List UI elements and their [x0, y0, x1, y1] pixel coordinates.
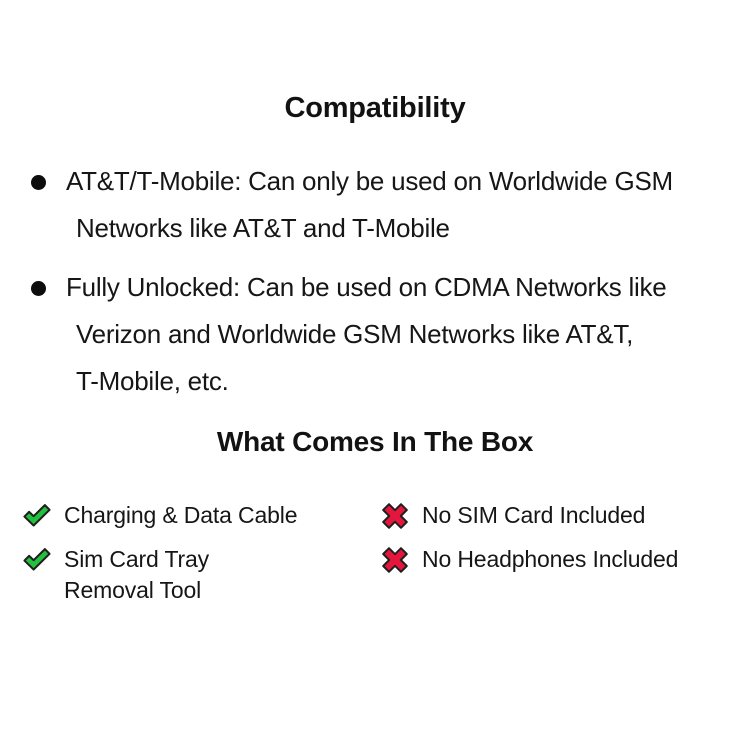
box-contents-heading: What Comes In The Box	[0, 428, 750, 456]
bullet-line-1: Fully Unlocked: Can be used on CDMA Netw…	[66, 264, 734, 311]
bullet-line-3: T-Mobile, etc.	[66, 358, 734, 405]
box-item-label: No SIM Card Included	[422, 498, 645, 531]
bullet-dot-icon	[31, 281, 46, 296]
box-item-label: Sim Card Tray Removal Tool	[64, 542, 209, 606]
product-info-panel: Compatibility AT&T/T-Mobile: Can only be…	[0, 0, 750, 750]
bullet-line-2: Networks like AT&T and T-Mobile	[66, 205, 734, 252]
bullet-line-2: Verizon and Worldwide GSM Networks like …	[66, 311, 734, 358]
list-item: Sim Card Tray Removal Tool	[22, 542, 378, 606]
box-item-label: Charging & Data Cable	[64, 498, 297, 531]
bullet-dot-icon	[31, 175, 46, 190]
list-item: Fully Unlocked: Can be used on CDMA Netw…	[28, 264, 734, 405]
list-item: Charging & Data Cable	[22, 498, 378, 542]
red-cross-icon	[380, 545, 410, 575]
green-check-icon	[22, 501, 52, 531]
compatibility-bullet-list: AT&T/T-Mobile: Can only be used on World…	[28, 158, 734, 417]
green-check-icon	[22, 545, 52, 575]
box-contents-grid: Charging & Data Cable No SIM Card Includ…	[22, 498, 734, 606]
list-item: No SIM Card Included	[378, 498, 734, 542]
red-cross-icon	[380, 501, 410, 531]
bullet-line-1: AT&T/T-Mobile: Can only be used on World…	[66, 158, 734, 205]
compatibility-heading: Compatibility	[0, 94, 750, 123]
box-item-label: No Headphones Included	[422, 542, 678, 575]
list-item: AT&T/T-Mobile: Can only be used on World…	[28, 158, 734, 252]
list-item: No Headphones Included	[378, 542, 734, 606]
